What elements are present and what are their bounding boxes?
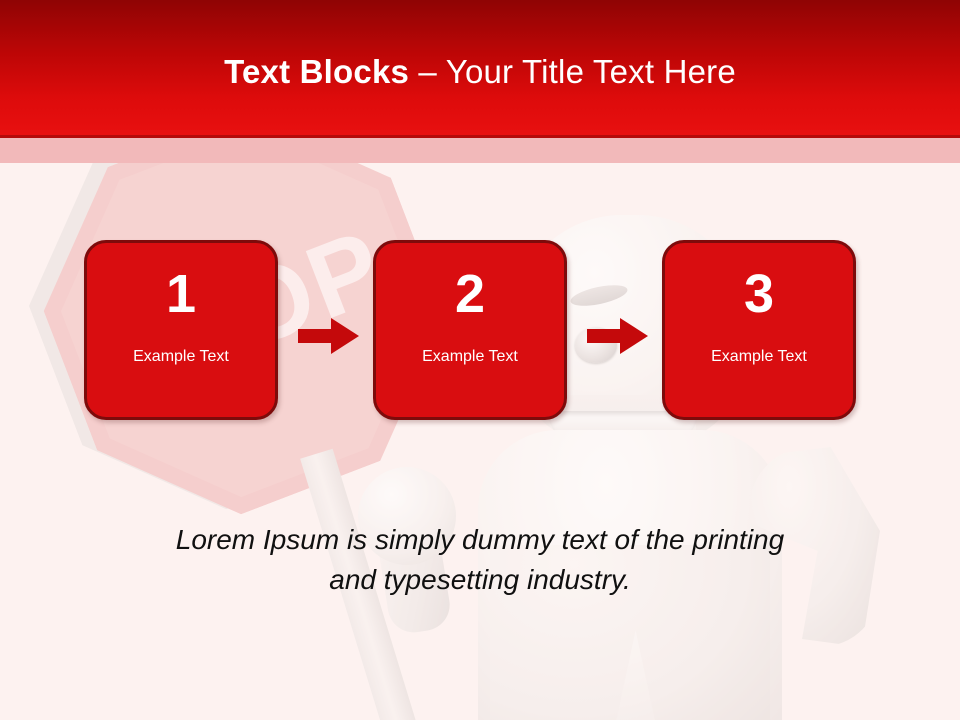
step-label-2: Example Text	[422, 347, 518, 367]
step-label-1: Example Text	[133, 347, 229, 367]
arrow-right-icon-1	[298, 316, 360, 356]
header-pink-stripe	[0, 138, 960, 163]
step-label-3: Example Text	[711, 347, 807, 367]
caption-text: Lorem Ipsum is simply dummy text of the …	[110, 520, 850, 600]
step-box-1[interactable]: 1 Example Text	[84, 240, 278, 420]
caption-line-1: Lorem Ipsum is simply dummy text of the …	[110, 520, 850, 560]
page-title-bold: Text Blocks	[224, 53, 409, 90]
step-box-3[interactable]: 3 Example Text	[662, 240, 856, 420]
step-number-3: 3	[744, 265, 774, 323]
slide-canvas: STOP Text Blocks – Your Title Text Here …	[0, 0, 960, 720]
caption-line-2: and typesetting industry.	[110, 560, 850, 600]
page-title: Text Blocks – Your Title Text Here	[0, 52, 960, 92]
arrow-right-icon-2	[587, 316, 649, 356]
step-box-2[interactable]: 2 Example Text	[373, 240, 567, 420]
page-title-separator: –	[409, 53, 446, 90]
step-number-1: 1	[166, 265, 196, 323]
step-number-2: 2	[455, 265, 485, 323]
step-blocks-row: 1 Example Text 2 Example Text 3 Example …	[0, 240, 960, 432]
page-title-light: Your Title Text Here	[446, 53, 736, 90]
